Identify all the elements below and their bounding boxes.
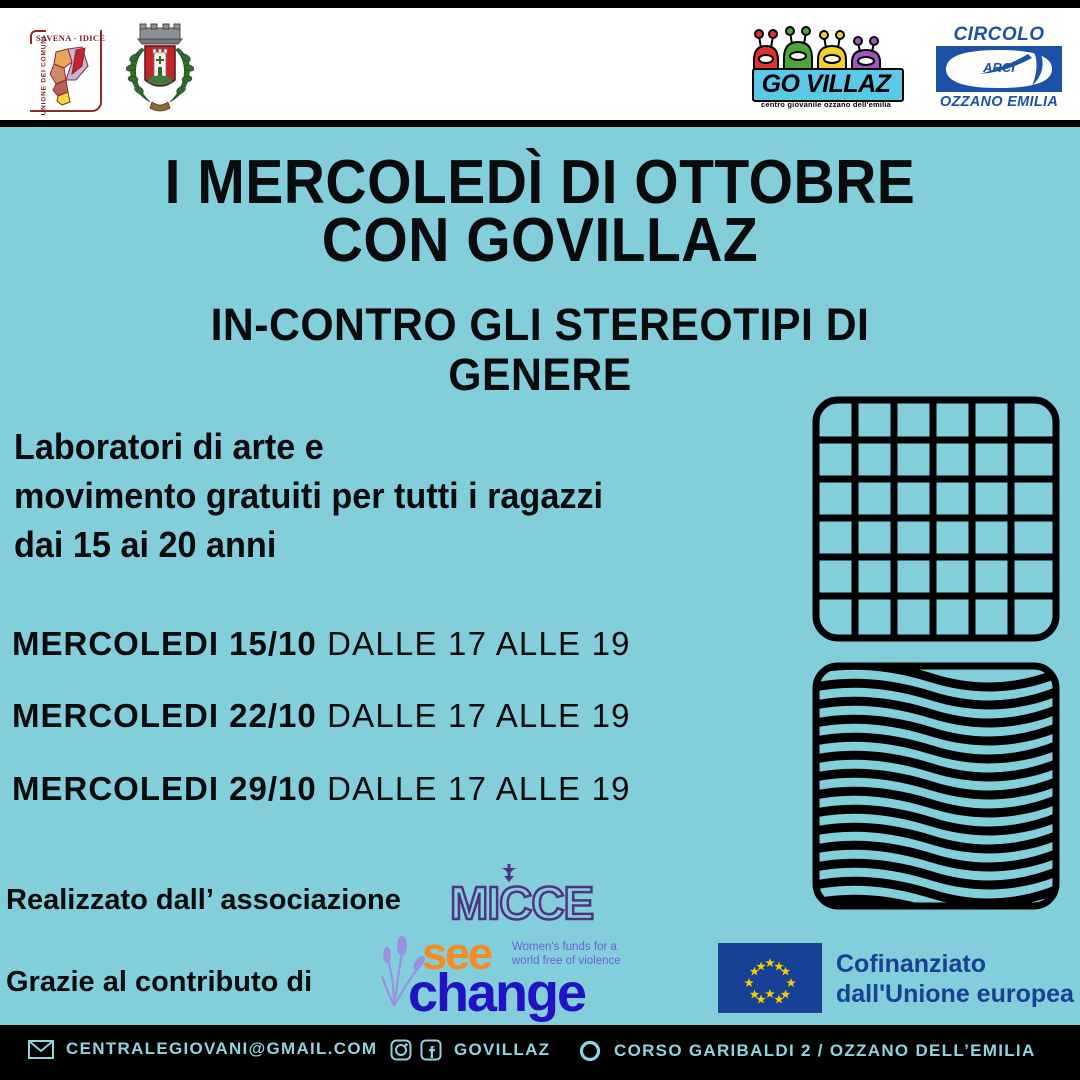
headline-line-1: I MERCOLEDÌ DI OTTOBRE (43, 154, 1037, 212)
see-change-tagline: Women's funds for a world free of violen… (512, 940, 621, 968)
top-black-strip (0, 0, 1080, 8)
logo-header: SAVENA - IDICE UNIONE DEI COMUNI (0, 8, 1080, 120)
monster-characters-icon (748, 26, 904, 74)
facebook-icon[interactable] (420, 1039, 442, 1061)
unione-dei-comuni-logo: SAVENA - IDICE UNIONE DEI COMUNI (12, 26, 102, 111)
go-villaz-logo: GO VILLAZ centro giovanile ozzano dell'e… (748, 26, 904, 114)
go-villaz-wordmark: GO VILLAZ (748, 70, 904, 99)
subhead-line-2: GENERE (27, 350, 1053, 400)
arci-top-text: CIRCOLO (928, 24, 1070, 46)
comune-coat-of-arms-logo (112, 22, 208, 116)
description-text: Laboratori di arte e movimento gratuiti … (14, 422, 755, 569)
footer-social-handle: GOVILLAZ (454, 1040, 550, 1060)
wave-pattern-icon (812, 662, 1060, 910)
schedule-date: MERCOLEDI 15/10 (12, 625, 317, 662)
wave-square-decoration (812, 662, 1060, 910)
association-credit-label: Realizzato dall’ associazione (6, 884, 401, 917)
footer-social-item[interactable]: GOVILLAZ (390, 1039, 550, 1061)
header-divider (0, 120, 1080, 127)
poster-root: SAVENA - IDICE UNIONE DEI COMUNI (0, 0, 1080, 1080)
schedule-time: DALLE 17 ALLE 19 (317, 625, 631, 662)
footer-address-text: CORSO GARIBALDI 2 / OZZANO DELL’EMILIA (614, 1041, 1036, 1061)
eu-funding-logo: Cofinanziato dall'Unione europea (718, 943, 1068, 1019)
schedule-time: DALLE 17 ALLE 19 (317, 770, 631, 807)
eu-text-line-1: Cofinanziato (836, 949, 1074, 979)
tagline-line-1: Women's funds for a (512, 940, 621, 954)
page-subtitle: IN-CONTRO GLI STEREOTIPI DI GENERE (27, 300, 1053, 400)
description-line-3: dai 15 ai 20 anni (14, 520, 755, 569)
change-word: change (408, 962, 585, 1024)
see-change-logo: see change Women's funds for a world fre… (380, 928, 610, 1018)
contact-footer: CENTRALEGIOVANI@GMAIL.COM GOVILLAZ COR (0, 1025, 1080, 1080)
tagline-line-2: world free of violence (512, 954, 621, 968)
subhead-line-1: IN-CONTRO GLI STEREOTIPI DI (27, 300, 1053, 350)
eu-funding-text: Cofinanziato dall'Unione europea (836, 949, 1074, 1009)
grid-pattern-icon (812, 396, 1060, 642)
arci-bottom-text: OZZANO EMILIA (928, 94, 1070, 110)
schedule-row: MERCOLEDI 15/10 DALLE 17 ALLE 19 (12, 625, 802, 663)
eu-stars-icon (718, 943, 822, 1013)
footer-email-item[interactable]: CENTRALEGIOVANI@GMAIL.COM (28, 1039, 377, 1059)
social-icons (390, 1039, 442, 1061)
eu-flag-icon (718, 943, 822, 1013)
grid-square-decoration (812, 396, 1060, 642)
eu-text-line-2: dall'Unione europea (836, 979, 1074, 1009)
description-line-1: Laboratori di arte e (14, 422, 755, 471)
footer-address-item[interactable]: CORSO GARIBALDI 2 / OZZANO DELL’EMILIA (578, 1039, 1036, 1063)
schedule-date: MERCOLEDI 22/10 (12, 697, 317, 734)
coat-of-arms-icon (112, 22, 208, 116)
territory-map-icon (42, 46, 94, 108)
description-line-2: movimento gratuiti per tutti i ragazzi (14, 471, 755, 520)
envelope-icon (28, 1040, 54, 1059)
page-title: I MERCOLEDÌ DI OTTOBRE CON GOVILLAZ (43, 154, 1037, 270)
micce-wordmark: MICCE (450, 880, 590, 926)
footer-email-text: CENTRALEGIOVANI@GMAIL.COM (66, 1039, 377, 1059)
schedule-date: MERCOLEDI 29/10 (12, 770, 317, 807)
go-villaz-tagline: centro giovanile ozzano dell'emilia (748, 100, 904, 109)
arci-wordmark: ARCI (928, 60, 1070, 75)
schedule-row: MERCOLEDI 22/10 DALLE 17 ALLE 19 (12, 697, 802, 735)
circolo-arci-logo: CIRCOLO ARCI OZZANO EMILIA (928, 24, 1070, 118)
micce-logo: MICCE (450, 868, 590, 928)
contribution-credit-label: Grazie al contributo di (6, 966, 312, 999)
location-pin-icon (578, 1039, 602, 1063)
schedule-row: MERCOLEDI 29/10 DALLE 17 ALLE 19 (12, 770, 802, 808)
schedule-time: DALLE 17 ALLE 19 (317, 697, 631, 734)
instagram-icon[interactable] (390, 1039, 412, 1061)
headline-line-2: CON GOVILLAZ (43, 212, 1037, 270)
